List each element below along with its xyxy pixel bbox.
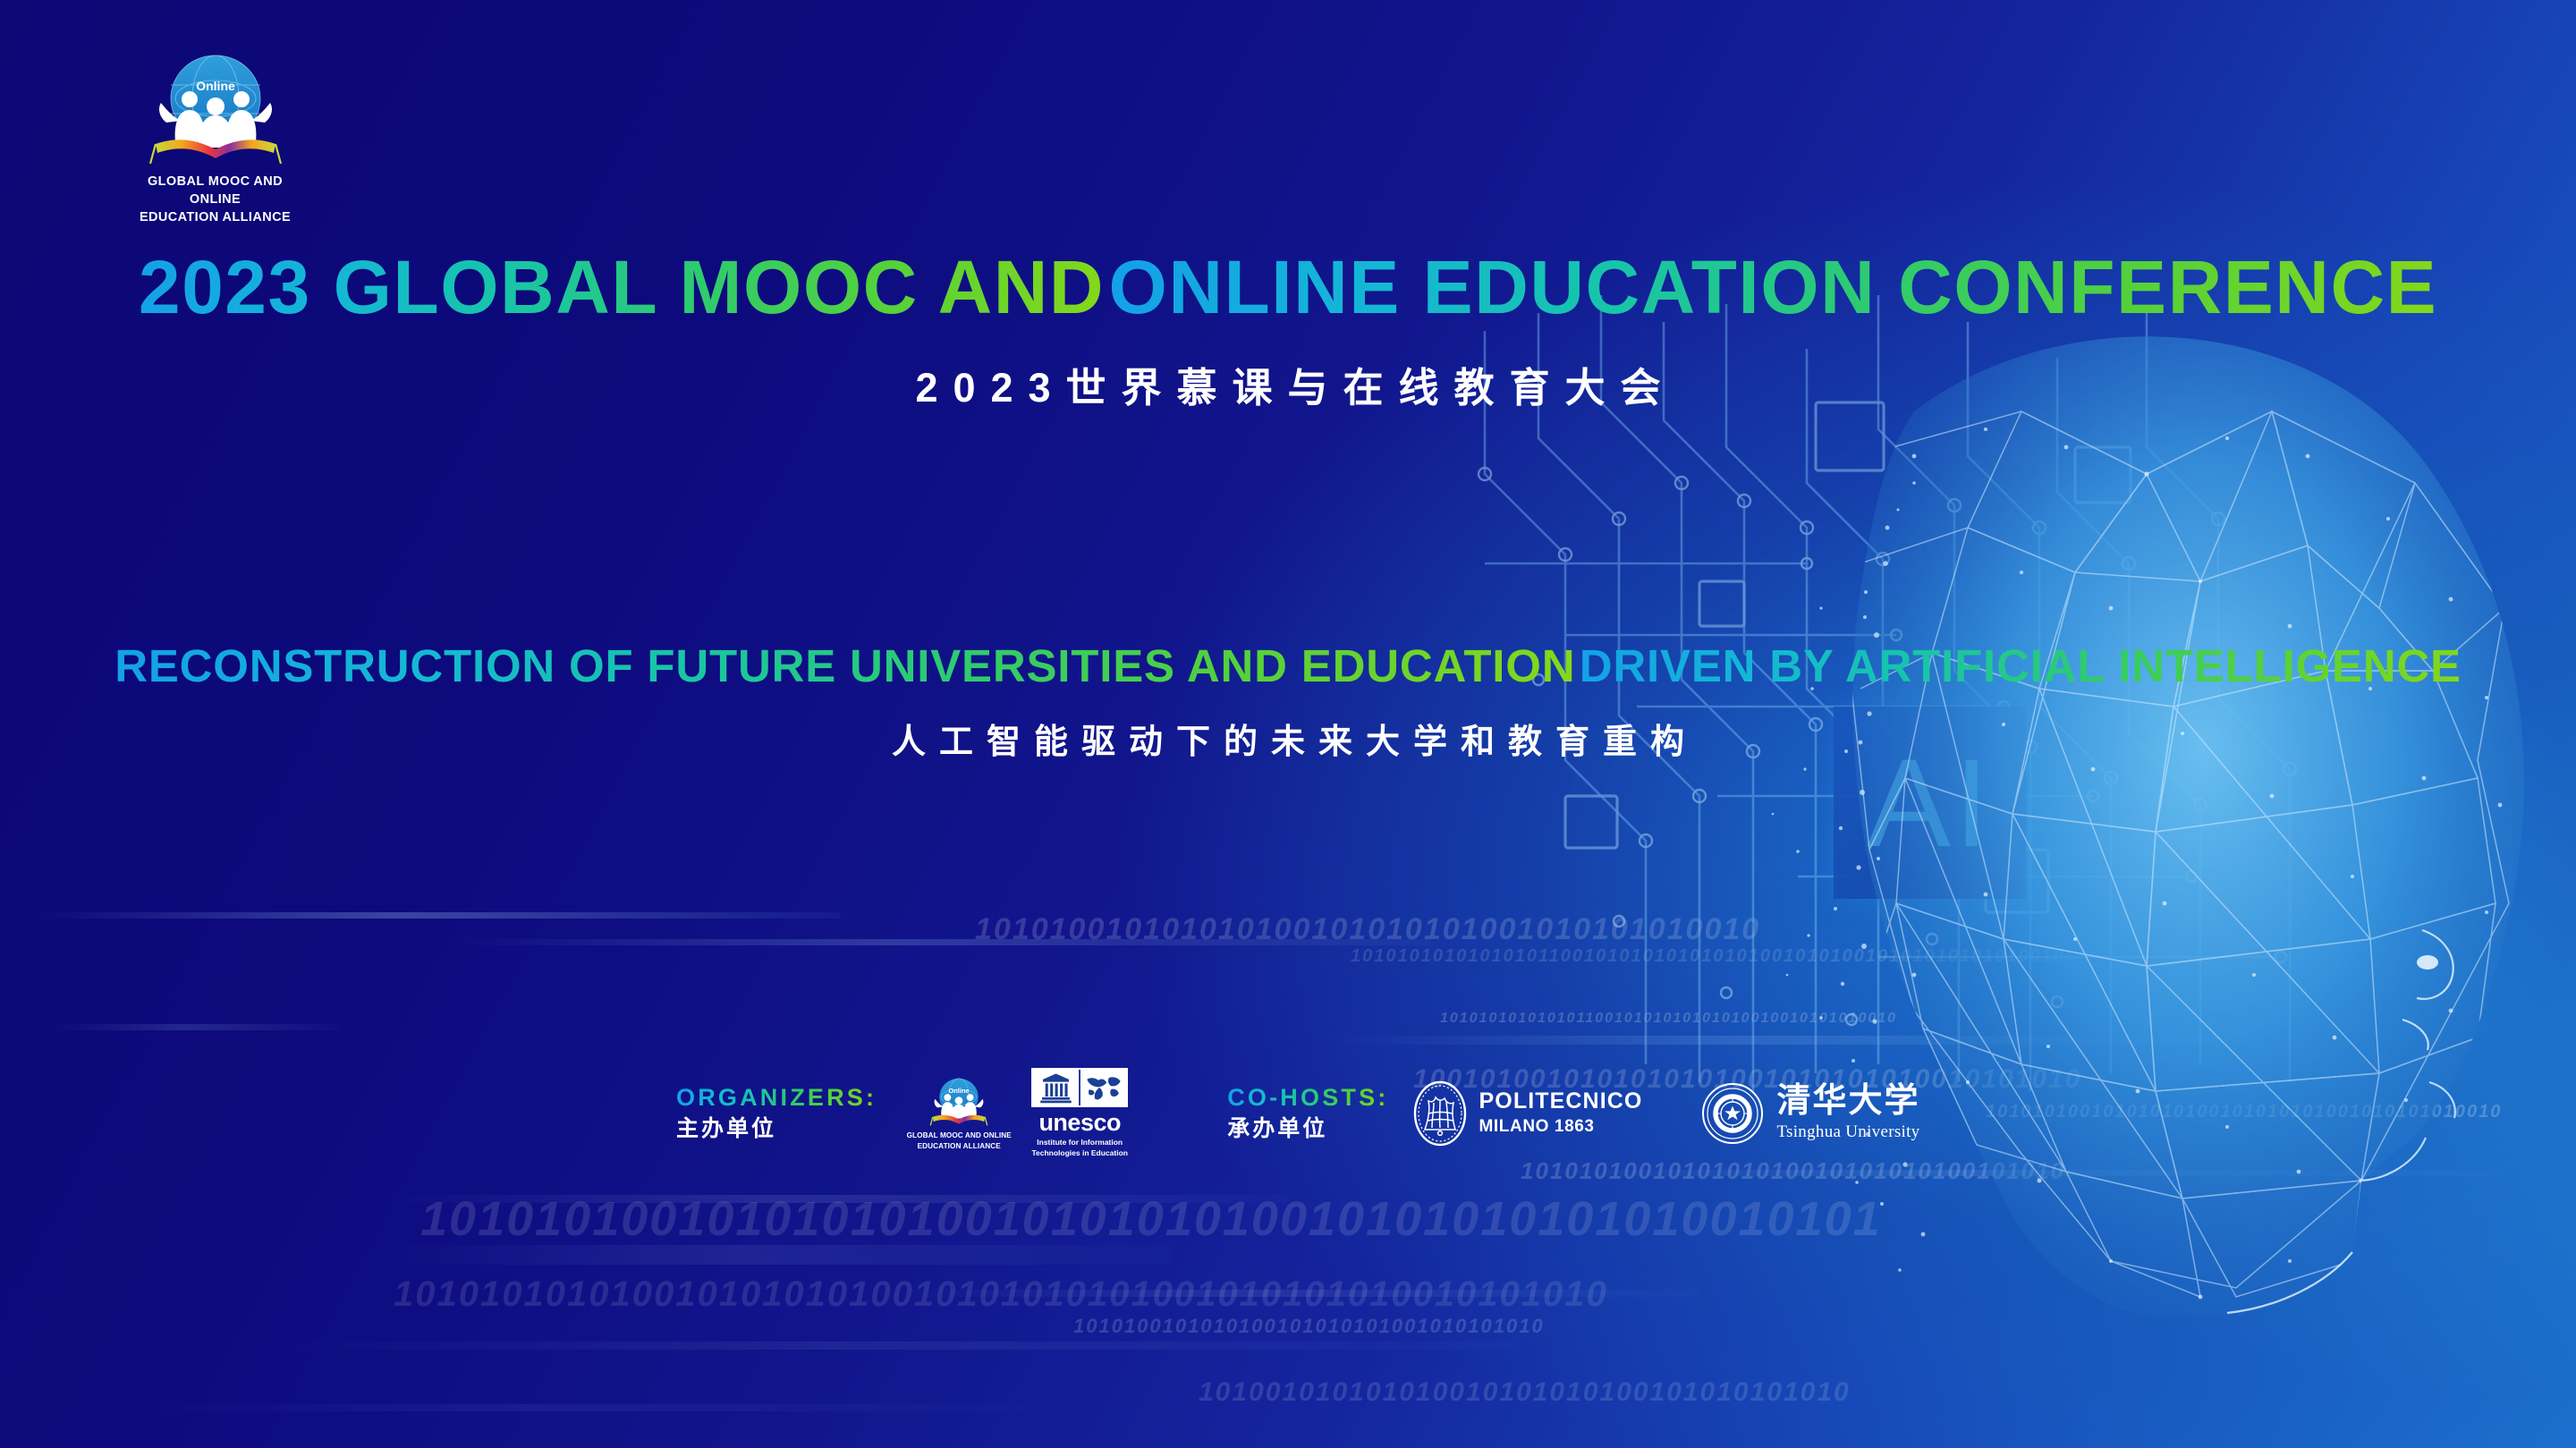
politecnico-milano-logo: POLITECNICO MILANO 1863 [1412, 1080, 1643, 1147]
global-mooc-alliance-logo-icon: Online [140, 49, 292, 165]
title-chinese: 2023世界慕课与在线教育大会 [0, 355, 2576, 413]
organizers-logos: Online [900, 1068, 1141, 1159]
cohosts-logos: POLITECNICO MILANO 1863 [1412, 1080, 1920, 1147]
tsinghua-name-cn: 清华大学 [1776, 1084, 1919, 1118]
unesco-sub-line-1: Institute for Information [1018, 1138, 1141, 1148]
theme-line-1: RECONSTRUCTION OF FUTURE UNIVERSITIES AN… [114, 637, 1575, 696]
title-line-2: ONLINE EDUCATION CONFERENCE [1108, 243, 2437, 332]
binary-code-row: 1010100101010100101010101001010101010 [1073, 1315, 1545, 1338]
organizers-label-cn: 主办单位 [676, 1115, 877, 1143]
unesco-temple-icon [1033, 1070, 1079, 1105]
alliance-name-line-2: EDUCATION ALLIANCE [123, 208, 307, 226]
alliance-name-line-1: GLOBAL MOOC AND ONLINE [123, 173, 307, 208]
global-mooc-alliance-logo-icon-small: Online [926, 1075, 992, 1127]
cohosts-label-group: CO-HOSTS: 承办单位 [1227, 1083, 1388, 1144]
global-mooc-alliance-logo-footer: Online [900, 1075, 1018, 1150]
cohosts-label-en: CO-HOSTS: [1227, 1083, 1388, 1112]
unesco-world-map-icon [1080, 1070, 1126, 1105]
politecnico-text: POLITECNICO MILANO 1863 [1479, 1089, 1643, 1136]
tsinghua-university-logo: 清华大学 Tsinghua University [1701, 1082, 1919, 1145]
theme-chinese: 人工智能驱动下的未来大学和教育重构 [0, 714, 2576, 763]
organizers-label-group: ORGANIZERS: 主办单位 [676, 1083, 877, 1144]
conference-title-block: 2023 GLOBAL MOOC AND ONLINE EDUCATION CO… [0, 243, 2576, 413]
alliance-logo-name: GLOBAL MOOC AND ONLINE EDUCATION ALLIANC… [123, 173, 307, 226]
politecnico-sub: MILANO 1863 [1479, 1117, 1643, 1137]
svg-text:Online: Online [196, 79, 235, 93]
tsinghua-name-en: Tsinghua University [1776, 1122, 1919, 1142]
politecnico-name: POLITECNICO [1479, 1089, 1643, 1113]
organizers-label-en: ORGANIZERS: [676, 1083, 877, 1112]
alliance-logo-header: Online GLOBAL MOOC AND ONLINE [123, 49, 307, 226]
tsinghua-text: 清华大学 Tsinghua University [1776, 1084, 1919, 1142]
unesco-emblem-boxes [1031, 1068, 1128, 1107]
svg-text:Online: Online [949, 1087, 970, 1095]
unesco-institute-name: Institute for Information Technologies i… [1018, 1138, 1141, 1159]
unesco-sub-line-2: Technologies in Education [1018, 1148, 1141, 1159]
unesco-iite-logo: unesco Institute for Information Technol… [1018, 1068, 1141, 1159]
unesco-wordmark: unesco [1018, 1111, 1141, 1135]
binary-code-row: 1010101010100101010101001010101010100101… [394, 1274, 1608, 1315]
alliance-footer-name-line-1: GLOBAL MOOC AND ONLINE [900, 1130, 1018, 1140]
theme-line-2: DRIVEN BY ARTIFICIAL INTELLIGENCE [1580, 637, 2462, 696]
cohosts-label-cn: 承办单位 [1227, 1115, 1388, 1143]
conference-banner: 1010100101010101001010101010010101010100… [0, 0, 2576, 1448]
conference-theme-block: RECONSTRUCTION OF FUTURE UNIVERSITIES AN… [0, 637, 2576, 763]
politecnico-seal-icon [1412, 1080, 1468, 1147]
alliance-footer-name-line-2: EDUCATION ALLIANCE [900, 1141, 1018, 1151]
footer-credits: ORGANIZERS: 主办单位 Online [676, 1066, 1920, 1160]
tsinghua-seal-icon [1701, 1082, 1764, 1145]
alliance-footer-name: GLOBAL MOOC AND ONLINE EDUCATION ALLIANC… [900, 1130, 1018, 1150]
title-line-1: 2023 GLOBAL MOOC AND [139, 243, 1105, 332]
